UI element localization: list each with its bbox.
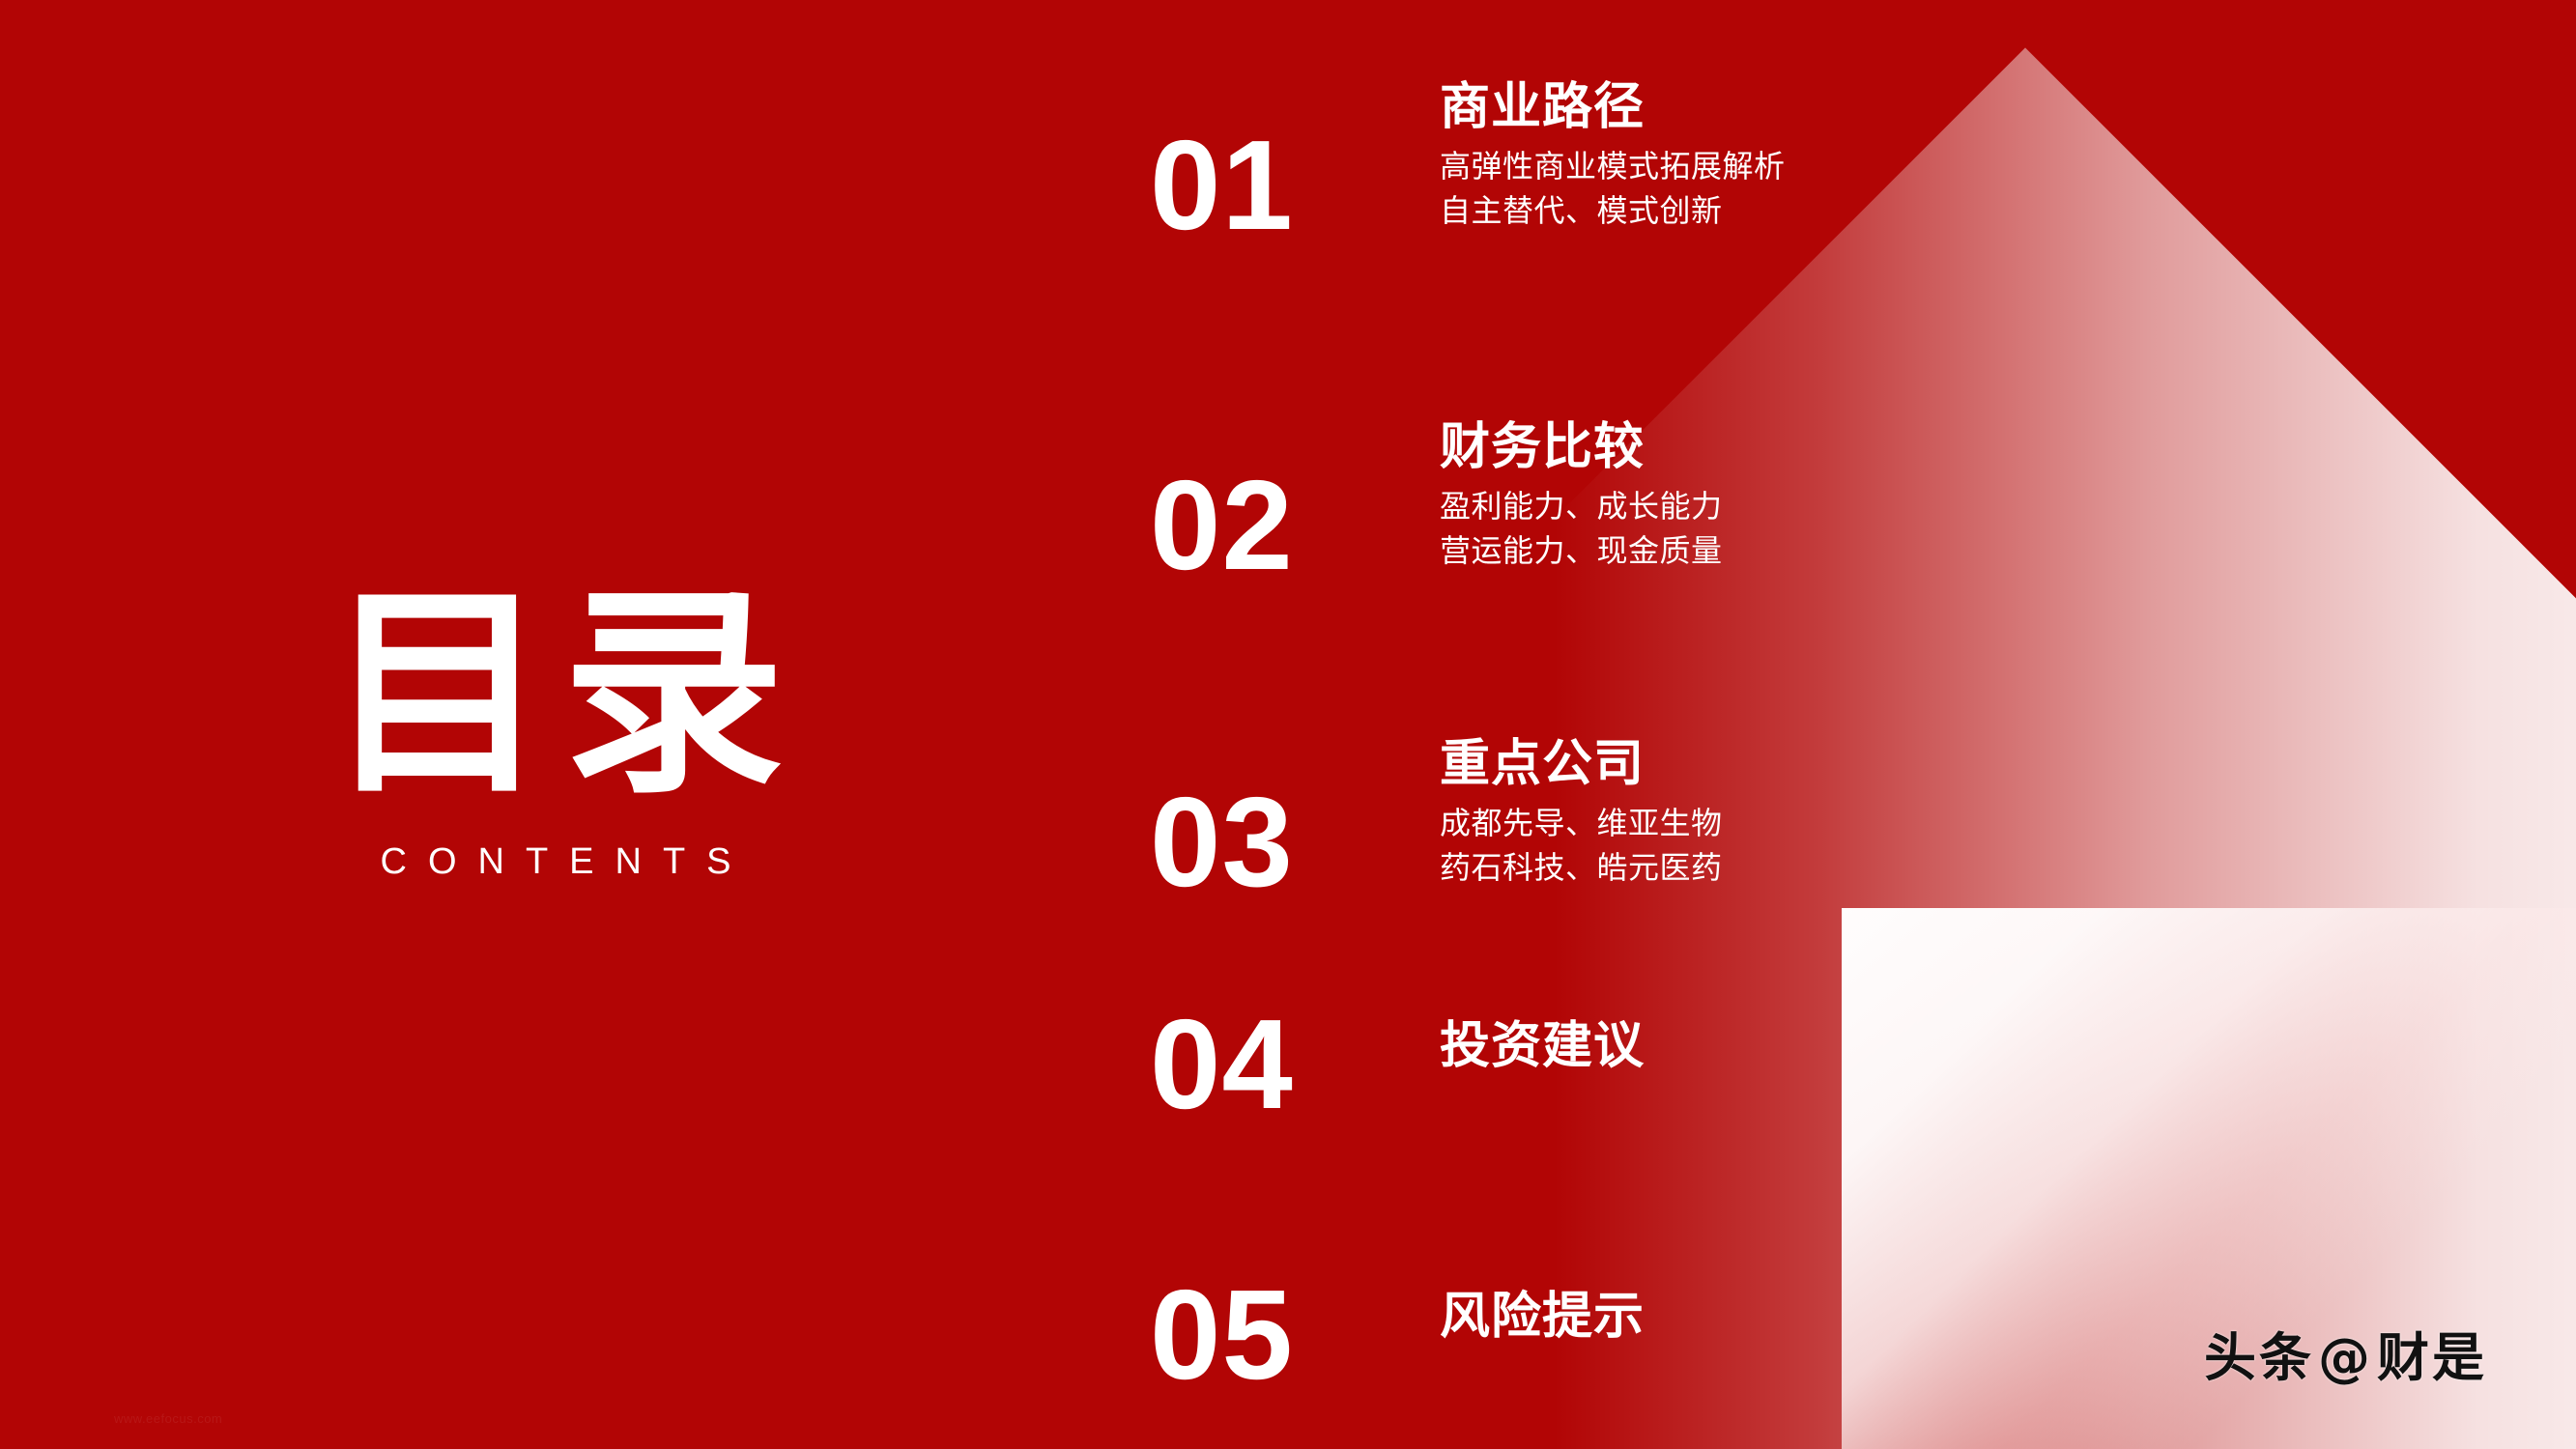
contents-item-04[interactable]: 04 投资建议 — [1150, 1014, 1645, 1142]
page-title-latin: CONTENTS — [0, 843, 1111, 880]
contents-item-title: 重点公司 — [1440, 736, 1723, 792]
contents-item-title: 风险提示 — [1440, 1289, 1645, 1345]
page-title-cjk: 目录 — [0, 580, 1111, 810]
contents-item-02[interactable]: 02 财务比较 盈利能力、成长能力 营运能力、现金质量 — [1150, 415, 1723, 570]
contents-item-text: 风险提示 — [1440, 1285, 1645, 1345]
contents-item-title: 财务比较 — [1440, 419, 1723, 475]
slide-canvas: 目录 CONTENTS 01 商业路径 高弹性商业模式拓展解析 自主替代、模式创… — [0, 0, 2576, 1449]
contents-item-number: 05 — [1150, 1271, 1440, 1399]
contents-item-text: 重点公司 成都先导、维亚生物 药石科技、皓元医药 — [1440, 732, 1723, 887]
contents-item-title: 投资建议 — [1440, 1018, 1645, 1074]
contents-item-subtitle-1: 盈利能力、成长能力 — [1440, 487, 1723, 526]
contents-item-number: 02 — [1150, 462, 1440, 589]
contents-item-subtitle-2: 药石科技、皓元医药 — [1440, 848, 1723, 887]
contents-item-03[interactable]: 03 重点公司 成都先导、维亚生物 药石科技、皓元医药 — [1150, 732, 1723, 887]
contents-item-01[interactable]: 01 商业路径 高弹性商业模式拓展解析 自主替代、模式创新 — [1150, 75, 1786, 230]
contents-list: 01 商业路径 高弹性商业模式拓展解析 自主替代、模式创新 02 财务比较 盈利… — [1150, 0, 2406, 1449]
contents-item-subtitle-2: 自主替代、模式创新 — [1440, 191, 1786, 230]
contents-item-text: 投资建议 — [1440, 1014, 1645, 1074]
faint-source-mark: www.eefocus.com — [114, 1411, 222, 1426]
contents-item-number: 03 — [1150, 779, 1440, 906]
contents-item-subtitle-2: 营运能力、现金质量 — [1440, 531, 1723, 570]
page-title: 目录 CONTENTS — [0, 580, 1111, 880]
contents-item-05[interactable]: 05 风险提示 — [1150, 1285, 1645, 1412]
watermark-brand: 头条 — [2204, 1327, 2314, 1388]
contents-item-number: 01 — [1150, 122, 1440, 249]
watermark: 头条@财是 — [2204, 1315, 2487, 1391]
contents-item-subtitle-1: 成都先导、维亚生物 — [1440, 804, 1723, 842]
contents-item-title: 商业路径 — [1440, 79, 1786, 135]
contents-item-subtitle-1: 高弹性商业模式拓展解析 — [1440, 147, 1786, 185]
contents-item-text: 商业路径 高弹性商业模式拓展解析 自主替代、模式创新 — [1440, 75, 1786, 230]
contents-item-number: 04 — [1150, 1001, 1440, 1128]
contents-item-text: 财务比较 盈利能力、成长能力 营运能力、现金质量 — [1440, 415, 1723, 570]
watermark-at-symbol: @ — [2318, 1327, 2373, 1388]
watermark-handle: 财是 — [2377, 1327, 2487, 1388]
